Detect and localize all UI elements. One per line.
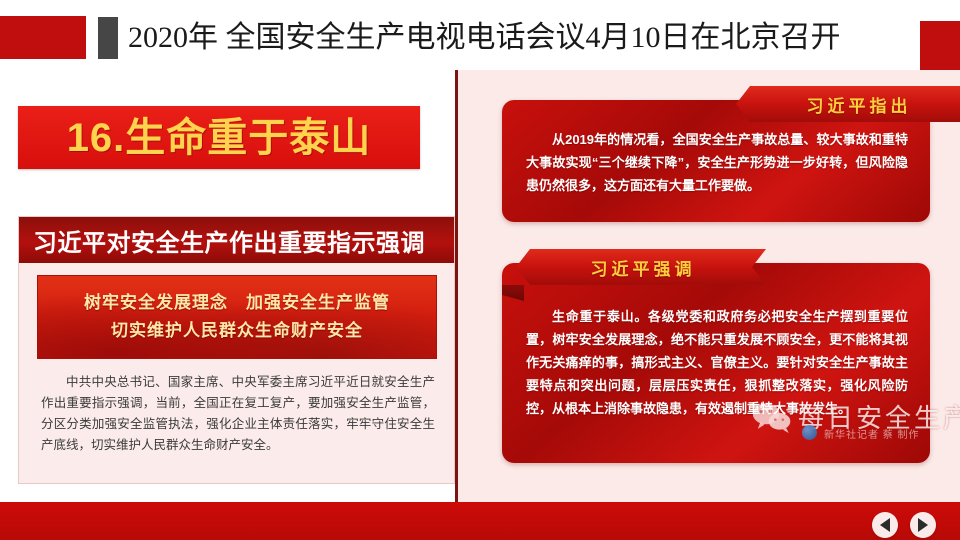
next-slide-button[interactable] <box>910 512 936 538</box>
slogan-line-2: 切实维护人民群众生命财产安全 <box>111 317 363 345</box>
quote-ribbon-2: 习近平强调 <box>516 249 770 285</box>
quote-callout-2: 习近平强调 生命重于泰山。各级党委和政府务必把安全生产摆到重要位置，树牢安全发展… <box>502 263 930 463</box>
directive-card-header: 习近平对安全生产作出重要指示强调 <box>19 217 454 263</box>
slide-stage: 16.生命重于泰山 习近平对安全生产作出重要指示强调 树牢安全发展理念 加强安全… <box>0 78 960 540</box>
left-panel: 16.生命重于泰山 习近平对安全生产作出重要指示强调 树牢安全发展理念 加强安全… <box>0 78 455 502</box>
quote-text-2: 生命重于泰山。各级党委和政府务必把安全生产摆到重要位置，树牢安全发展理念，绝不能… <box>526 305 908 420</box>
directive-card-heading: 习近平对安全生产作出重要指示强调 <box>33 223 425 258</box>
quote-text-1: 从2019年的情况看，全国安全生产事故总量、较大事故和重特大事故实现“三个继续下… <box>526 128 908 197</box>
quote-ribbon-2-label: 习近平强调 <box>591 255 696 280</box>
bottom-bar <box>0 502 960 540</box>
slogan-box: 树牢安全发展理念 加强安全生产监管 切实维护人民群众生命财产安全 <box>37 275 437 359</box>
quote-ribbon-1-label: 习近平指出 <box>807 92 912 117</box>
page-header: 2020年 全国安全生产电视电话会议4月10日在北京召开 <box>0 0 960 78</box>
quote-callout-1: 习近平指出 从2019年的情况看，全国安全生产事故总量、较大事故和重特大事故实现… <box>502 100 930 222</box>
header-gray-block <box>98 17 118 59</box>
section-title-text: 16.生命重于泰山 <box>67 118 372 158</box>
header-corner-red-block <box>920 21 960 73</box>
page-title: 2020年 全国安全生产电视电话会议4月10日在北京召开 <box>128 14 841 62</box>
chevron-right-icon <box>918 518 928 532</box>
chevron-left-icon <box>880 518 890 532</box>
slogan-line-1: 树牢安全发展理念 加强安全生产监管 <box>84 289 390 317</box>
right-panel-inner: 习近平指出 从2019年的情况看，全国安全生产事故总量、较大事故和重特大事故实现… <box>466 78 954 496</box>
directive-card: 习近平对安全生产作出重要指示强调 树牢安全发展理念 加强安全生产监管 切实维护人… <box>18 216 455 484</box>
quote-ribbon-1: 习近平指出 <box>732 86 960 122</box>
header-red-block <box>0 16 86 59</box>
directive-paragraph: 中共中央总书记、国家主席、中央军委主席习近平近日就安全生产作出重要指示强调，当前… <box>41 372 435 456</box>
prev-slide-button[interactable] <box>872 512 898 538</box>
section-title-banner: 16.生命重于泰山 <box>18 106 420 169</box>
ribbon-tail-left <box>502 285 524 301</box>
right-panel: 习近平指出 从2019年的情况看，全国安全生产事故总量、较大事故和重特大事故实现… <box>458 70 960 502</box>
